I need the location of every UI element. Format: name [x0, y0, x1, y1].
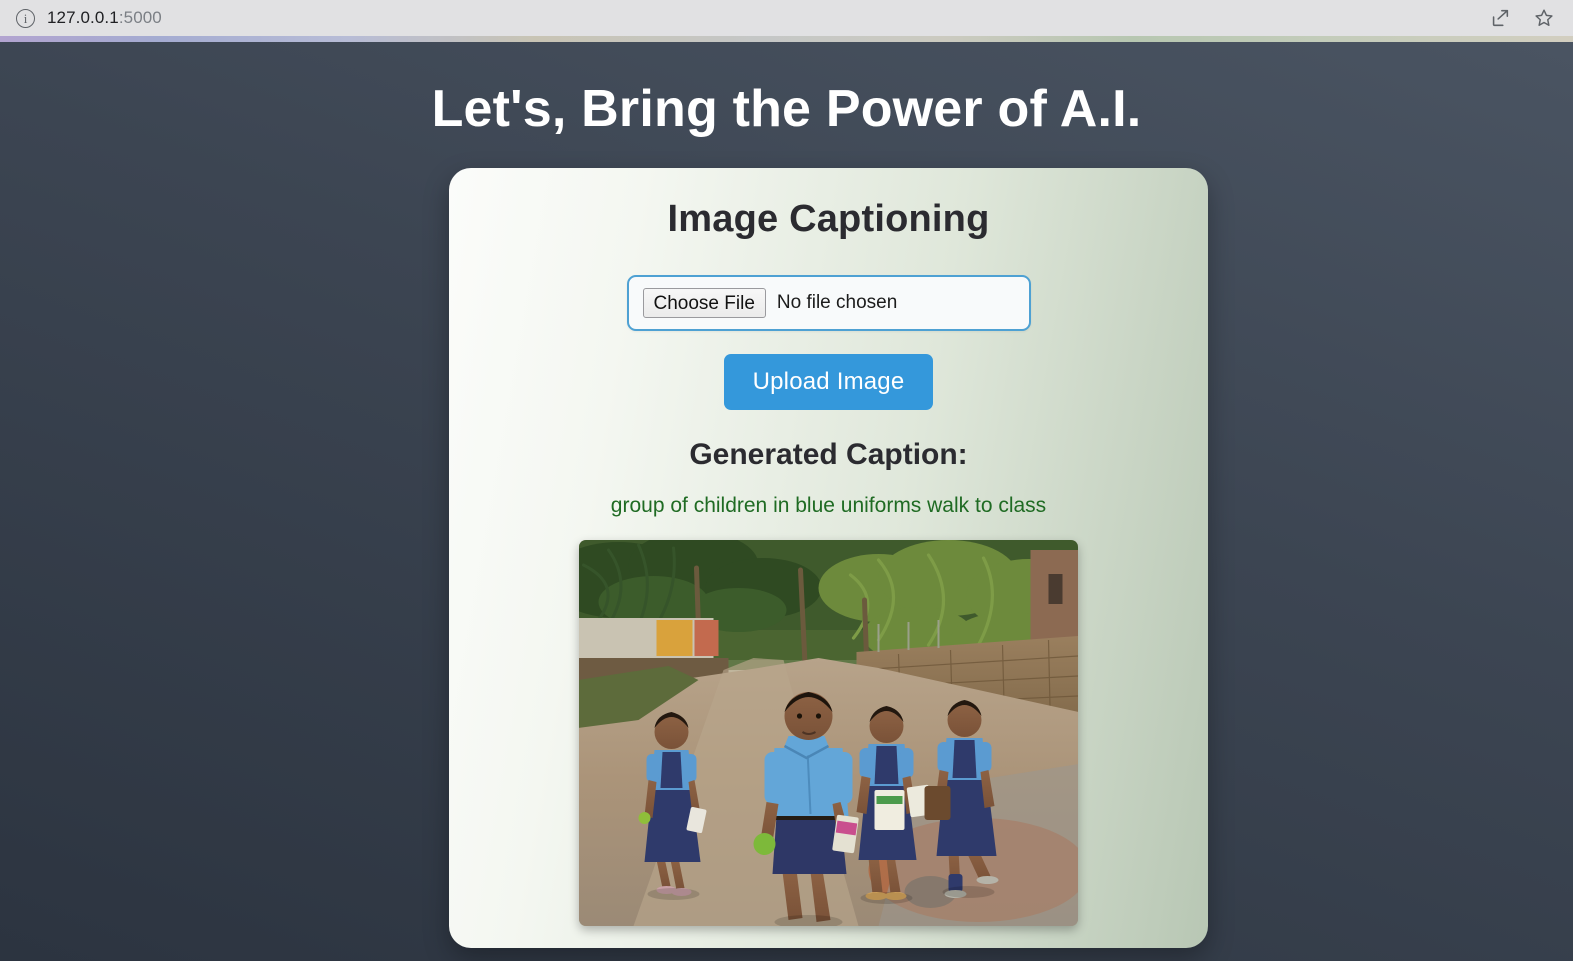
- bookmark-star-icon[interactable]: [1533, 7, 1555, 29]
- image-captioning-card: Image Captioning Choose File No file cho…: [449, 168, 1208, 948]
- generated-caption-heading: Generated Caption:: [449, 438, 1208, 472]
- generated-caption-text: group of children in blue uniforms walk …: [449, 494, 1208, 518]
- browser-toolbar: i 127.0.0.1:5000: [0, 0, 1573, 36]
- file-input[interactable]: Choose File No file chosen: [627, 275, 1031, 331]
- browser-content-strip: [0, 36, 1573, 42]
- file-status-text: No file chosen: [777, 292, 897, 314]
- upload-row: Upload Image: [449, 354, 1208, 410]
- page-title: Let's, Bring the Power of A.I.: [0, 79, 1573, 139]
- site-info-icon[interactable]: i: [16, 9, 35, 28]
- photo-row: [449, 540, 1208, 926]
- upload-image-button[interactable]: Upload Image: [724, 354, 934, 410]
- url-text: 127.0.0.1:5000: [47, 8, 162, 28]
- photo-illustration: [579, 540, 1078, 926]
- uploaded-image: [579, 540, 1078, 926]
- url-host: 127.0.0.1: [47, 8, 119, 27]
- toolbar-actions: [1489, 7, 1573, 29]
- address-bar[interactable]: i 127.0.0.1:5000: [0, 8, 1489, 28]
- page-body: Let's, Bring the Power of A.I. Image Cap…: [0, 42, 1573, 961]
- choose-file-button[interactable]: Choose File: [643, 288, 766, 318]
- share-icon[interactable]: [1489, 7, 1511, 29]
- card-title: Image Captioning: [449, 198, 1208, 241]
- url-port: :5000: [119, 8, 162, 27]
- file-input-row: Choose File No file chosen: [449, 275, 1208, 331]
